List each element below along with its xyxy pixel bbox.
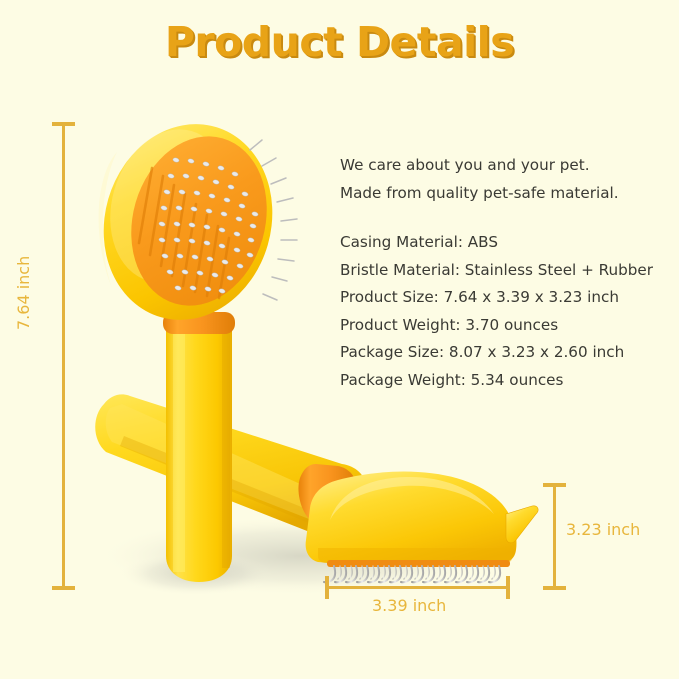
page-title: Product Details — [0, 18, 679, 66]
depth-dimension-cap-bottom — [543, 586, 566, 590]
spec-bristle-material: Bristle Material: Stainless Steel + Rubb… — [340, 257, 670, 285]
product-details-infographic: Product Details We care about you and yo… — [0, 0, 679, 679]
depth-dimension-label: 3.23 inch — [566, 520, 640, 539]
height-dimension-cap-top — [52, 122, 75, 126]
width-dimension-line — [327, 586, 510, 589]
spec-list: Casing Material: ABS Bristle Material: S… — [340, 229, 670, 394]
depth-dimension-line — [553, 485, 556, 588]
intro-paragraph: We care about you and your pet. Made fro… — [340, 152, 670, 207]
width-dimension-cap-left — [325, 576, 329, 599]
lying-brush-fin — [506, 506, 538, 543]
spec-product-weight: Product Weight: 3.70 ounces — [340, 312, 670, 340]
spec-product-size: Product Size: 7.64 x 3.39 x 3.23 inch — [340, 284, 670, 312]
width-dimension-label: 3.39 inch — [372, 596, 446, 615]
width-dimension-cap-right — [506, 576, 510, 599]
height-dimension-line — [62, 124, 65, 588]
intro-line-2: Made from quality pet-safe material. — [340, 180, 670, 208]
spec-package-size: Package Size: 8.07 x 3.23 x 2.60 inch — [340, 339, 670, 367]
spec-package-weight: Package Weight: 5.34 ounces — [340, 367, 670, 395]
product-spec-text: We care about you and your pet. Made fro… — [340, 152, 670, 394]
spec-casing-material: Casing Material: ABS — [340, 229, 670, 257]
intro-line-1: We care about you and your pet. — [340, 152, 670, 180]
height-dimension-label: 7.64 inch — [14, 210, 33, 330]
depth-dimension-cap-top — [543, 483, 566, 487]
height-dimension-cap-bottom — [52, 586, 75, 590]
